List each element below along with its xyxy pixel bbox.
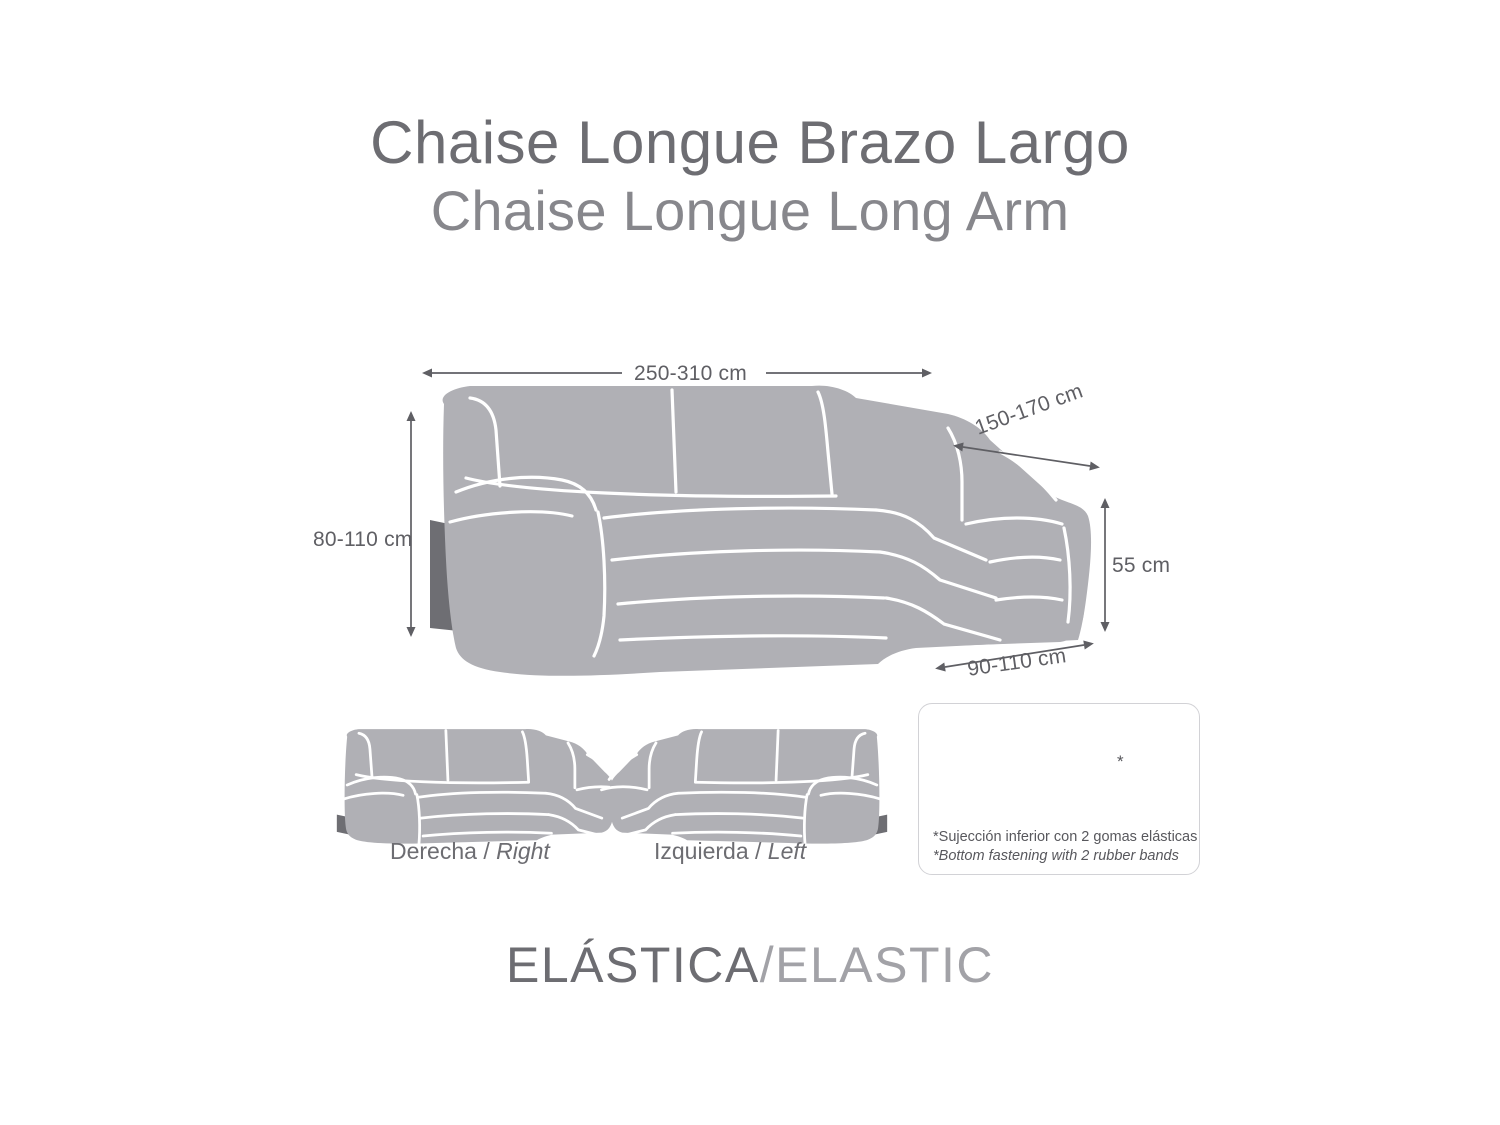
footer-text-english: ELASTIC bbox=[775, 937, 994, 993]
footer-text-spanish: ELÁSTICA bbox=[506, 937, 760, 993]
fastening-note-text: *Sujección inferior con 2 gomas elástica… bbox=[933, 828, 1189, 866]
variant-caption-left: Izquierda / Left bbox=[654, 838, 806, 865]
variant-left-label-es: Izquierda bbox=[654, 838, 749, 864]
variant-right-label-en: Right bbox=[496, 838, 550, 864]
variant-left-illustration bbox=[602, 729, 888, 844]
variant-caption-right: Derecha / Right bbox=[390, 838, 550, 865]
variant-right-illustration bbox=[337, 729, 623, 844]
footprint-asterisk: * bbox=[1117, 752, 1124, 772]
note-line-spanish: *Sujección inferior con 2 gomas elástica… bbox=[933, 828, 1189, 847]
variant-right-label-es: Derecha bbox=[390, 838, 477, 864]
variant-left-separator: / bbox=[749, 838, 768, 864]
dimension-label-chaise-height: 55 cm bbox=[1112, 554, 1170, 578]
chaise-arm bbox=[918, 424, 1086, 646]
sofa-backrest bbox=[462, 390, 868, 496]
dimension-label-overall-width: 250-310 cm bbox=[634, 362, 747, 386]
fastening-note-box: *Sujección inferior con 2 gomas elástica… bbox=[918, 703, 1200, 875]
dimension-label-overall-height: 80-110 cm bbox=[313, 528, 412, 552]
footer-separator: / bbox=[760, 937, 775, 993]
variant-right-separator: / bbox=[477, 838, 496, 864]
footer-elastic-label: ELÁSTICA/ELASTIC bbox=[0, 936, 1500, 994]
product-spec-sheet: Chaise Longue Brazo Largo Chaise Longue … bbox=[0, 0, 1500, 1125]
variant-left-label-en: Left bbox=[768, 838, 806, 864]
note-line-english: *Bottom fastening with 2 rubber bands bbox=[933, 847, 1189, 866]
